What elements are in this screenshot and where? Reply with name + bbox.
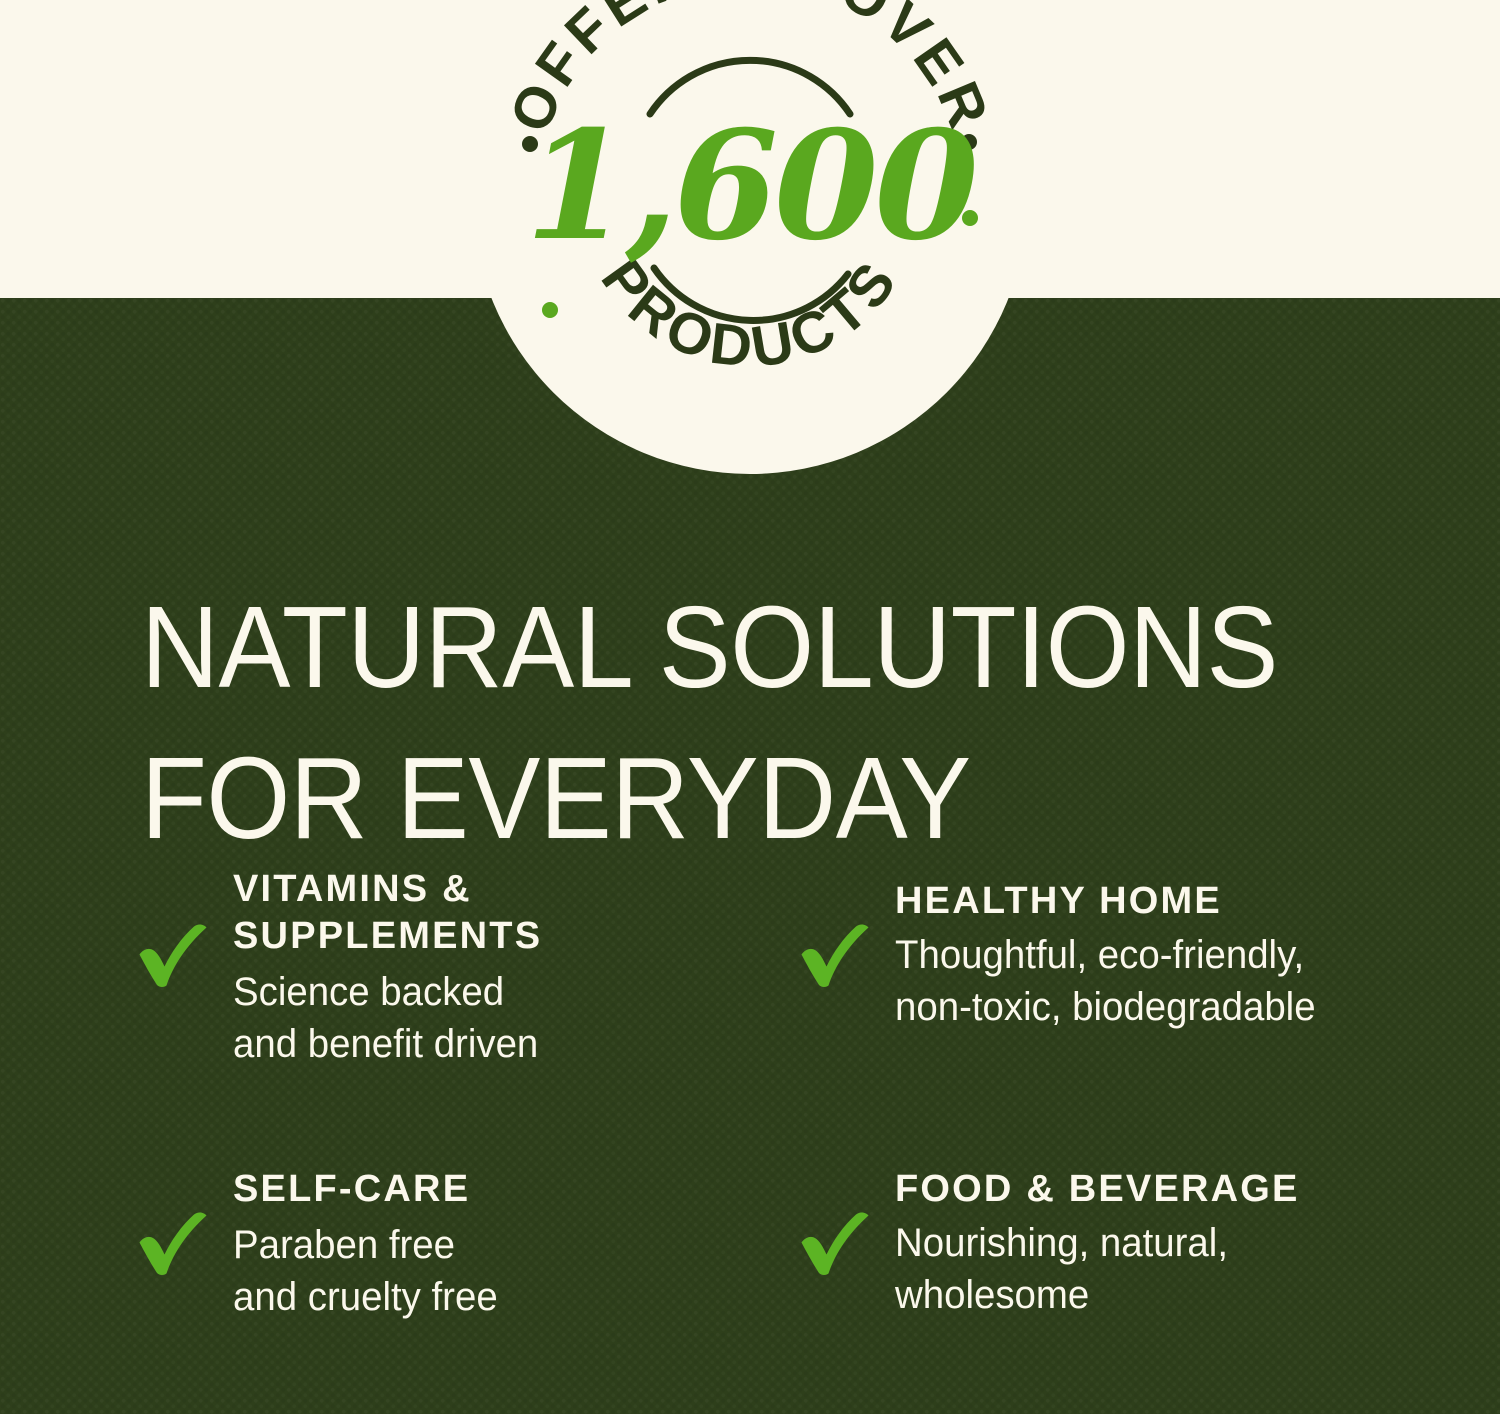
- feature-text-block: SELF-CARE Paraben free and cruelty free: [233, 1166, 778, 1323]
- feature-row: SELF-CARE Paraben free and cruelty free …: [0, 1166, 1500, 1406]
- promo-banner: OFFERING OVER PRODUCTS 1,600 NATURAL SOL…: [0, 0, 1500, 1414]
- feature-desc-line-2: and benefit driven: [233, 1018, 756, 1070]
- feature-desc-line-2: and cruelty free: [233, 1271, 756, 1323]
- feature-title-line-2: SUPPLEMENTS: [233, 913, 778, 960]
- check-icon: [138, 1212, 208, 1276]
- page-title: NATURAL SOLUTIONS FOR EVERYDAY: [141, 572, 1401, 874]
- feature-title: HEALTHY HOME: [895, 878, 1440, 925]
- feature-description: Thoughtful, eco-friendly, non-toxic, bio…: [895, 929, 1418, 1033]
- headline-line-1: NATURAL SOLUTIONS: [141, 572, 1313, 723]
- feature-row: VITAMINS & SUPPLEMENTS Science backed an…: [0, 866, 1500, 1166]
- feature-title-line-1: VITAMINS &: [233, 866, 778, 913]
- feature-description: Science backed and benefit driven: [233, 966, 756, 1070]
- offering-over-products-badge: OFFERING OVER PRODUCTS 1,600: [472, 0, 1028, 474]
- feature-desc-line-1: Nourishing, natural,: [895, 1217, 1418, 1269]
- feature-description: Nourishing, natural, wholesome: [895, 1217, 1418, 1321]
- feature-desc-line-2: non-toxic, biodegradable: [895, 981, 1418, 1033]
- feature-text-block: HEALTHY HOME Thoughtful, eco-friendly, n…: [895, 878, 1440, 1033]
- headline-line-2: FOR EVERYDAY: [141, 723, 1313, 874]
- feature-text-block: FOOD & BEVERAGE Nourishing, natural, who…: [895, 1166, 1440, 1321]
- feature-desc-line-1: Thoughtful, eco-friendly,: [895, 929, 1418, 981]
- check-icon: [138, 924, 208, 988]
- feature-title: SELF-CARE: [233, 1166, 778, 1213]
- badge-product-count: 1,600: [525, 98, 977, 274]
- feature-desc-line-1: Science backed: [233, 966, 756, 1018]
- feature-description: Paraben free and cruelty free: [233, 1219, 756, 1323]
- feature-desc-line-1: Paraben free: [233, 1219, 756, 1271]
- feature-title: FOOD & BEVERAGE: [895, 1166, 1440, 1213]
- feature-text-block: VITAMINS & SUPPLEMENTS Science backed an…: [233, 866, 778, 1070]
- feature-list: VITAMINS & SUPPLEMENTS Science backed an…: [0, 866, 1500, 1406]
- feature-desc-line-2: wholesome: [895, 1269, 1418, 1321]
- check-icon: [800, 924, 870, 988]
- check-icon: [800, 1212, 870, 1276]
- badge-dot-left-low: [542, 302, 558, 318]
